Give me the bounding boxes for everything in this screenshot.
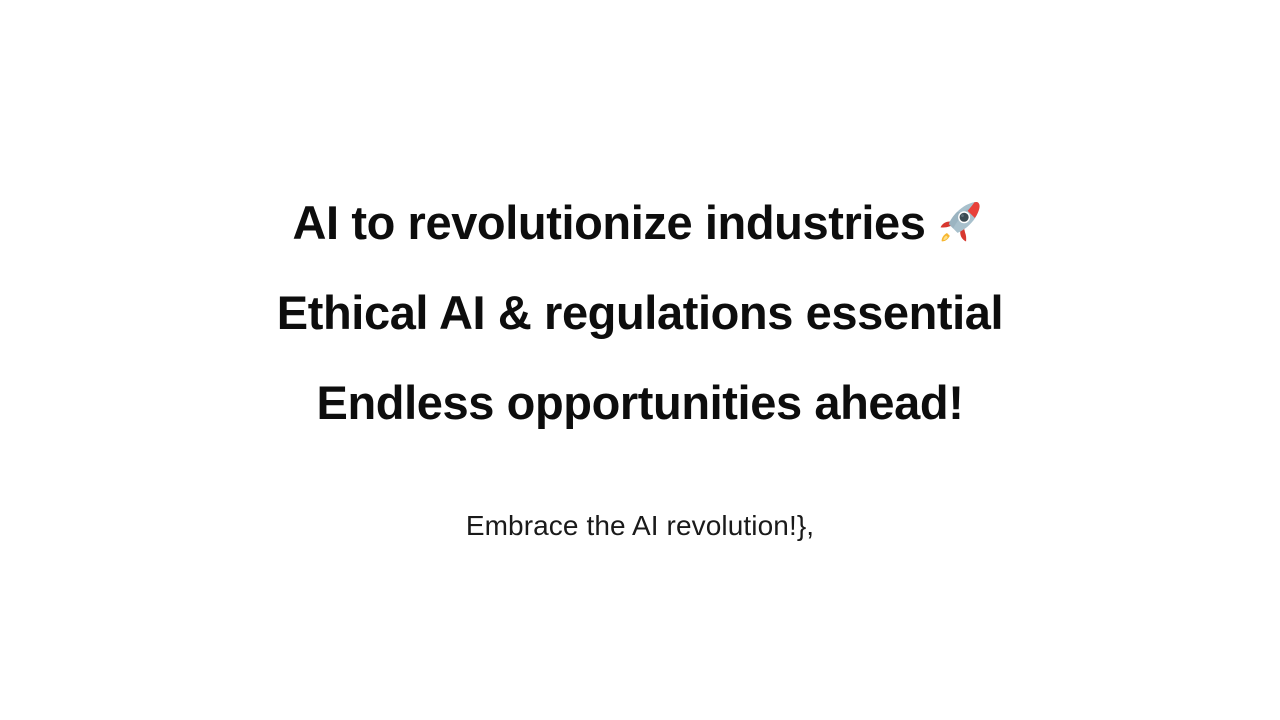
rocket-icon (936, 194, 988, 246)
headline-line-3: Endless opportunities ahead! (0, 358, 1280, 448)
headline-block: AI to revolutionize industries (0, 178, 1280, 448)
headline-line-2-text: Ethical AI & regulations essential (277, 286, 1003, 339)
headline-line-1: AI to revolutionize industries (0, 178, 1280, 268)
headline-line-3-text: Endless opportunities ahead! (317, 376, 964, 429)
headline-line-2: Ethical AI & regulations essential (0, 268, 1280, 358)
headline-line-1-text: AI to revolutionize industries (292, 196, 925, 249)
slide-canvas: AI to revolutionize industries (0, 0, 1280, 720)
subtitle-text: Embrace the AI revolution!}, (0, 505, 1280, 547)
